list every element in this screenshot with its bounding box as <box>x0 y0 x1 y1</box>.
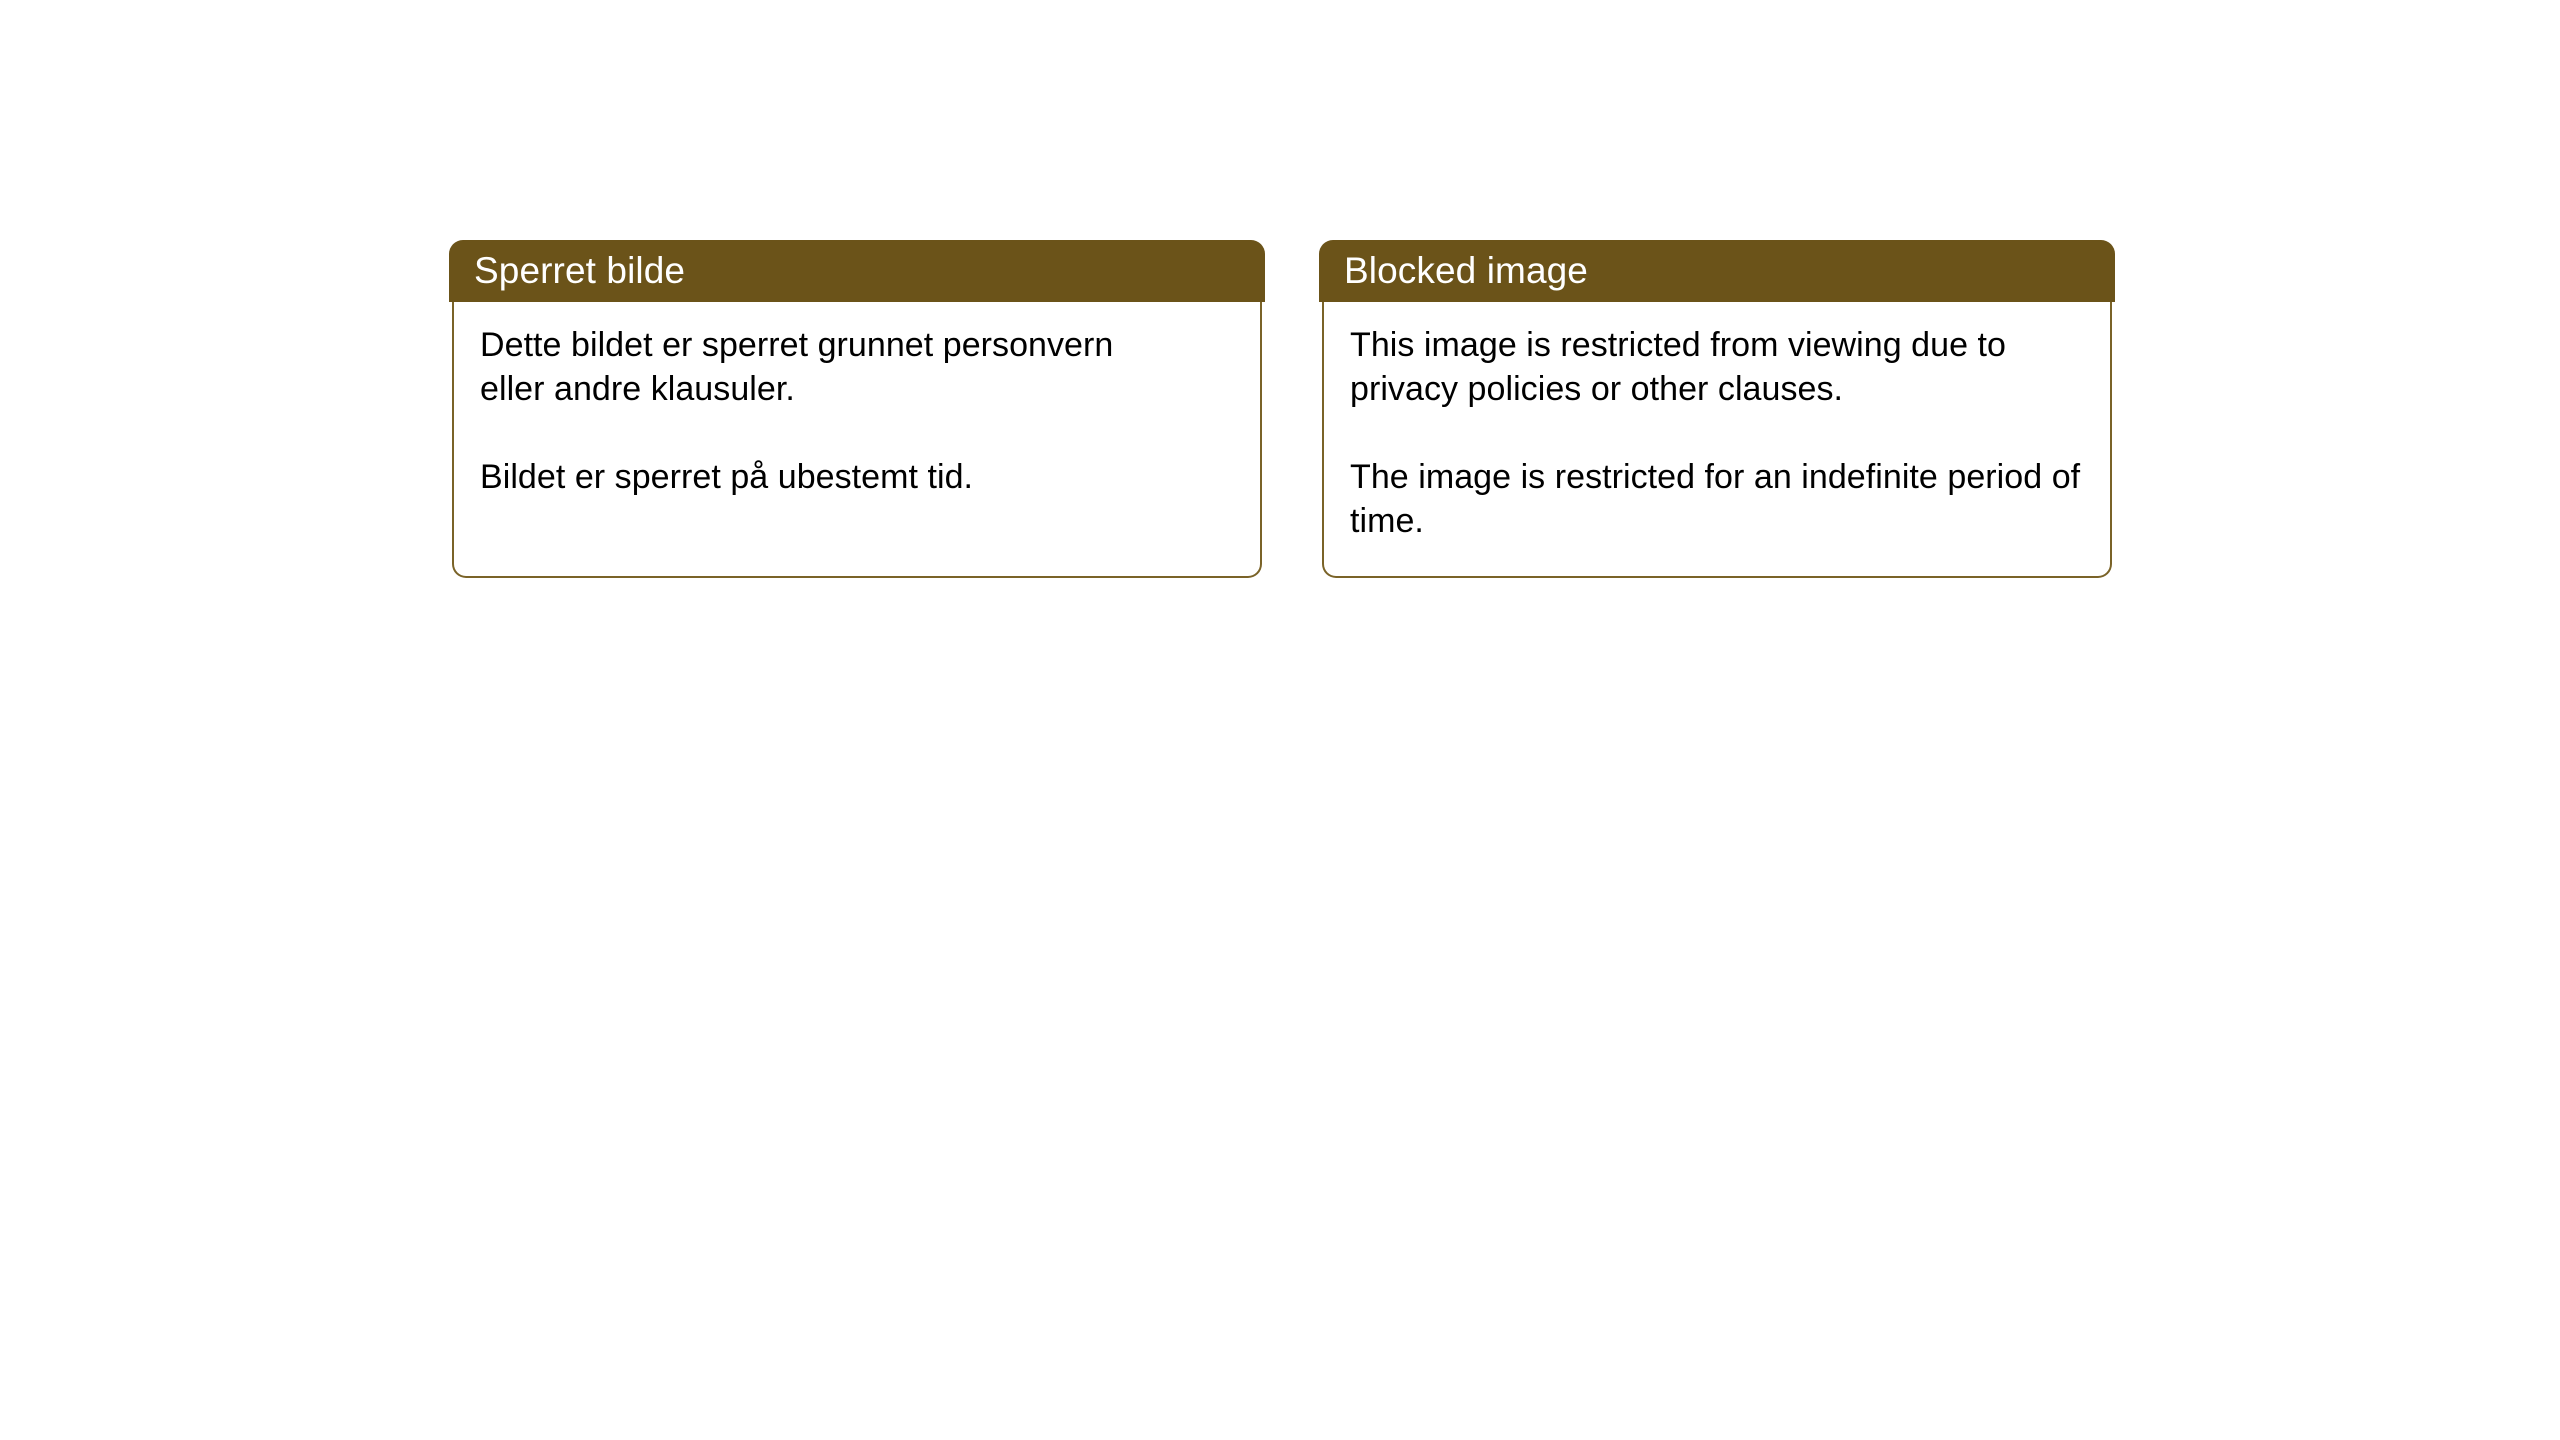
blocked-image-notice-group: Sperret bilde Dette bildet er sperret gr… <box>452 240 2112 578</box>
notice-paragraph-english-1: This image is restricted from viewing du… <box>1350 323 2084 411</box>
page-canvas: Sperret bilde Dette bildet er sperret gr… <box>0 0 2560 1440</box>
blocked-image-notice-english: Blocked image This image is restricted f… <box>1322 240 2112 578</box>
blocked-image-notice-norwegian: Sperret bilde Dette bildet er sperret gr… <box>452 240 1262 578</box>
notice-paragraph-english-2: The image is restricted for an indefinit… <box>1350 455 2084 543</box>
notice-header-norwegian: Sperret bilde <box>449 240 1265 302</box>
notice-header-english: Blocked image <box>1319 240 2115 302</box>
notice-paragraph-norwegian-1: Dette bildet er sperret grunnet personve… <box>480 323 1180 411</box>
notice-paragraph-norwegian-2: Bildet er sperret på ubestemt tid. <box>480 455 1180 499</box>
notice-title-english: Blocked image <box>1344 251 1588 291</box>
notice-body-norwegian: Dette bildet er sperret grunnet personve… <box>452 301 1262 578</box>
notice-title-norwegian: Sperret bilde <box>474 251 685 291</box>
notice-body-english: This image is restricted from viewing du… <box>1322 301 2112 578</box>
